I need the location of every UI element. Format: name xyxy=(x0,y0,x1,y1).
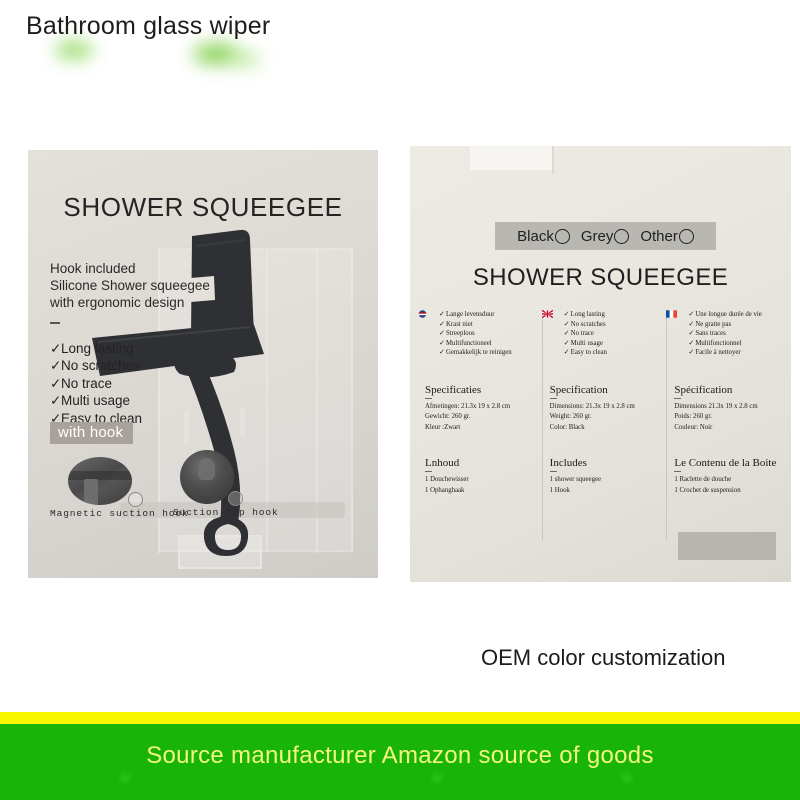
color-option-grey[interactable]: Grey xyxy=(581,228,630,245)
includes-line: 1 Crochet de suspension xyxy=(674,486,784,497)
feature-label: Multifonctionnel xyxy=(695,340,741,347)
radio-circle-icon[interactable] xyxy=(555,229,570,244)
banner-yellow-stripe xyxy=(0,712,800,724)
check-icon: ✓ xyxy=(564,348,571,358)
divider-dash xyxy=(674,398,681,399)
spec-line: Dimensions: 21.3x 19 x 2.8 cm xyxy=(550,402,660,413)
includes-block: Le Contenu de la Boite 1 Raclette de dou… xyxy=(674,457,784,496)
left-package-photo: SHOWER SQUEEGEE Hook included Silicone S… xyxy=(28,150,378,578)
check-icon: ✓ xyxy=(439,348,446,358)
feature-label: Une longue durée de vie xyxy=(695,311,761,318)
feature-label: Streeploos xyxy=(446,330,475,337)
column-french: ✓Une longue durée de vie ✓Ne gratte pas … xyxy=(667,310,791,540)
column-dutch: ✓Lange levensduur ✓Krast niet ✓Streeploo… xyxy=(418,310,543,540)
check-icon: ✓ xyxy=(50,357,61,374)
divider-dash xyxy=(50,322,60,324)
left-panel-title: SHOWER SQUEEGEE xyxy=(28,192,378,223)
includes-block: Includes 1 shower squeegee 1 Hook xyxy=(550,457,660,496)
product-image-canvas: Bathroom glass wiper xyxy=(0,0,800,800)
suction-cup-hook-label: Suction cup hook xyxy=(173,507,279,518)
suction-cup-hook-photo xyxy=(180,450,234,504)
green-blur-decoration xyxy=(232,52,260,66)
includes-heading: Le Contenu de la Boite xyxy=(674,457,784,469)
column-english: ✓Long lasting ✓No scratches ✓No trace ✓M… xyxy=(543,310,668,540)
language-columns: ✓Lange levensduur ✓Krast niet ✓Streeploo… xyxy=(418,310,791,540)
left-panel-intro: Hook included Silicone Shower squeegee w… xyxy=(50,260,230,311)
left-panel-feature-list: ✓Long lasting ✓No scratches ✓No trace ✓M… xyxy=(50,340,142,427)
feature-label: Gemakkelijk te reinigen xyxy=(446,349,512,356)
feature-label: No trace xyxy=(61,376,112,391)
check-icon: ✓ xyxy=(564,320,571,330)
spec-heading: Specificaties xyxy=(425,384,535,396)
includes-line: 1 Douchewisser xyxy=(425,475,535,486)
right-panel-title: SHOWER SQUEEGEE xyxy=(410,264,791,292)
feature-label: No scratches xyxy=(571,321,606,328)
option-circle-icon xyxy=(228,491,243,506)
feature-label: Facile à nettoyer xyxy=(695,349,740,356)
spec-block: Spécification Dimensions 21.3x 19 x 2.8 … xyxy=(674,384,784,434)
france-flag-icon xyxy=(666,310,677,318)
spec-block: Specificaties Afmetingen: 21.3x 19 x 2.8… xyxy=(425,384,535,434)
spec-line: Kleur :Zwart xyxy=(425,423,535,434)
magnetic-hook-label: Magnetic suction hook xyxy=(50,508,189,519)
bottom-banner: • • • Source manufacturer Amazon source … xyxy=(0,712,800,800)
feature-label: Easy to clean xyxy=(571,349,607,356)
radio-circle-icon[interactable] xyxy=(614,229,629,244)
spec-line: Couleur: Noir xyxy=(674,423,784,434)
includes-heading: Lnhoud xyxy=(425,457,535,469)
feature-label: Multi usage xyxy=(571,340,603,347)
check-icon: ✓ xyxy=(439,339,446,349)
divider-dash xyxy=(425,471,432,472)
check-icon: ✓ xyxy=(439,310,446,320)
check-icon: ✓ xyxy=(50,340,61,357)
spec-line: Afmetingen: 21.3x 19 x 2.8 cm xyxy=(425,402,535,413)
uk-flag-icon xyxy=(542,310,553,318)
includes-heading: Includes xyxy=(550,457,660,469)
spec-block: Specification Dimensions: 21.3x 19 x 2.8… xyxy=(550,384,660,434)
check-icon: ✓ xyxy=(564,310,571,320)
color-option-label: Other xyxy=(640,228,678,245)
option-circle-icon xyxy=(128,492,143,507)
color-option-label: Grey xyxy=(581,228,614,245)
spec-heading: Spécification xyxy=(674,384,784,396)
color-option-black[interactable]: Black xyxy=(517,228,570,245)
feature-label: Sans traces xyxy=(695,330,725,337)
includes-line: 1 Hook xyxy=(550,486,660,497)
check-icon: ✓ xyxy=(564,339,571,349)
feature-label: Multifunctioneel xyxy=(446,340,492,347)
netherlands-flag-icon xyxy=(417,310,428,318)
magnetic-hook-photo xyxy=(68,457,132,505)
check-icon: ✓ xyxy=(439,320,446,330)
feature-label: Long lasting xyxy=(61,341,134,356)
shower-drain-illustration xyxy=(178,535,262,569)
feature-label: No scratches xyxy=(61,358,140,373)
with-hook-badge: with hook xyxy=(50,422,133,444)
check-icon: ✓ xyxy=(50,392,61,409)
right-package-photo: Black Grey Other SHOWER SQUEEGEE xyxy=(410,146,791,582)
spec-line: Dimensions 21.3x 19 x 2.8 cm xyxy=(674,402,784,413)
spec-line: Gewicht: 260 gr. xyxy=(425,412,535,423)
feature-label: No trace xyxy=(571,330,594,337)
feature-label: Ne gratte pas xyxy=(695,321,731,328)
spec-line: Weight: 260 gr. xyxy=(550,412,660,423)
divider-dash xyxy=(425,398,432,399)
page-title: Bathroom glass wiper xyxy=(26,12,270,41)
oem-caption: OEM color customization xyxy=(481,645,726,671)
color-option-bar: Black Grey Other xyxy=(495,222,716,250)
spec-line: Poids: 260 gr. xyxy=(674,412,784,423)
color-option-other[interactable]: Other xyxy=(640,228,694,245)
check-icon: ✓ xyxy=(50,375,61,392)
includes-line: 1 Ophanghaak xyxy=(425,486,535,497)
includes-block: Lnhoud 1 Douchewisser 1 Ophanghaak xyxy=(425,457,535,496)
banner-text: Source manufacturer Amazon source of goo… xyxy=(0,742,800,770)
includes-line: 1 Raclette de douche xyxy=(674,475,784,486)
green-blur-decoration xyxy=(55,42,93,58)
radio-circle-icon[interactable] xyxy=(679,229,694,244)
feature-label: Multi usage xyxy=(61,393,130,408)
feature-label: Lange levensduur xyxy=(446,311,495,318)
spec-line: Color: Black xyxy=(550,423,660,434)
spec-heading: Specification xyxy=(550,384,660,396)
divider-dash xyxy=(550,398,557,399)
grey-label-patch xyxy=(678,532,776,560)
check-icon: ✓ xyxy=(564,329,571,339)
feature-label: Krast niet xyxy=(446,321,473,328)
divider-dash xyxy=(550,471,557,472)
color-option-label: Black xyxy=(517,228,554,245)
check-icon: ✓ xyxy=(439,329,446,339)
divider-dash xyxy=(674,471,681,472)
includes-line: 1 shower squeegee xyxy=(550,475,660,486)
feature-label: Long lasting xyxy=(571,311,605,318)
